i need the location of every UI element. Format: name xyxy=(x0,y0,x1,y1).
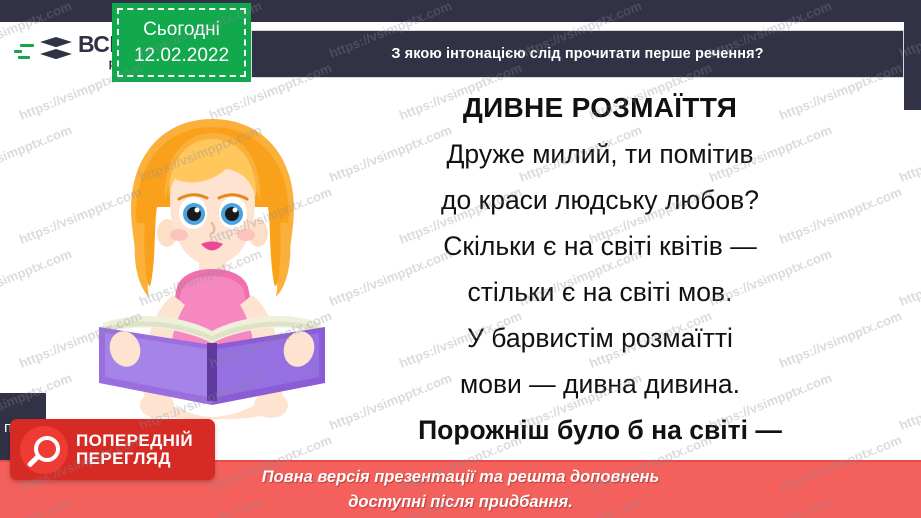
question-bar: З якою інтонацією слід прочитати перше р… xyxy=(251,30,904,78)
right-dark-band xyxy=(904,0,921,110)
date-label: Сьогодні xyxy=(143,17,220,43)
watermark-text: https://vsimpptx.com xyxy=(0,246,74,309)
poem-line-7: Порожніш було б на світі — xyxy=(340,407,860,453)
poem-line-6: мови — дивна дивина. xyxy=(340,361,860,407)
girl-reading-illustration xyxy=(85,105,340,425)
preview-badge-line2: ПЕРЕГЛЯД xyxy=(76,450,193,468)
poem-block: ДИВНЕ РОЗМАЇТТЯ Друже милий, ти помітивд… xyxy=(340,88,860,499)
graduation-cap-icon xyxy=(40,36,74,66)
watermark-text: https://vsimpptx.com xyxy=(0,122,74,185)
watermark-text: https://vsimpptx.com xyxy=(897,370,921,433)
poem-line-2: до краси людську любов? xyxy=(340,177,860,223)
date-badge: Сьогодні 12.02.2022 xyxy=(112,3,251,82)
preview-badge: ПОПЕРЕДНІЙ ПЕРЕГЛЯД xyxy=(10,419,215,480)
poem-title: ДИВНЕ РОЗМАЇТТЯ xyxy=(340,88,860,128)
watermark-text: https://vsimpptx.com xyxy=(897,246,921,309)
preview-badge-line1: ПОПЕРЕДНІЙ xyxy=(76,432,193,450)
poem-line-3: Скільки є на світі квітів — xyxy=(340,223,860,269)
presentation-slide: п с ВСІМ pptx Сьогодні 12.02.2022 З якою… xyxy=(0,0,921,518)
magnifier-icon xyxy=(20,426,68,474)
poem-line-1: Друже милий, ти помітив xyxy=(340,131,860,177)
poem-lines: Друже милий, ти помітивдо краси людську … xyxy=(340,131,860,499)
poem-line-5: У барвистім розмаїтті xyxy=(340,315,860,361)
poem-line-4: стільки є на світі мов. xyxy=(340,269,860,315)
watermark-text: https://vsimpptx.com xyxy=(897,122,921,185)
date-value: 12.02.2022 xyxy=(134,43,229,69)
question-text: З якою інтонацією слід прочитати перше р… xyxy=(391,46,763,62)
speed-lines-icon xyxy=(14,44,36,59)
banner-line1: Повна версія презентації та решта доповн… xyxy=(262,465,660,490)
banner-line2: доступні після придбання. xyxy=(348,490,573,515)
